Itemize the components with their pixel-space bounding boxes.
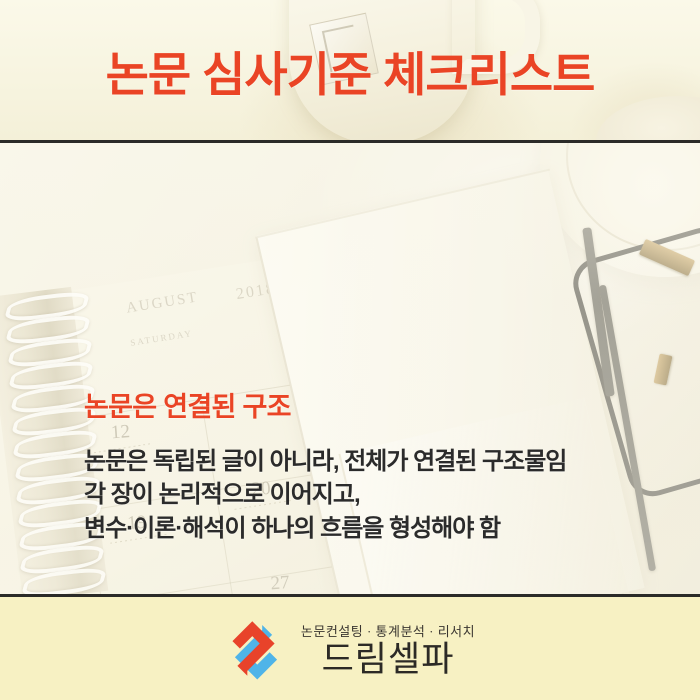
body-line-1: 논문은 독립된 글이 아니라, 전체가 연결된 구조물임 [84,445,644,479]
body-line-3: 변수·이론·해석이 하나의 흐름을 형성해야 함 [84,512,644,546]
section-heading: 논문은 연결된 구조 [84,393,644,423]
brand-tagline: 논문컨설팅 · 통계분석 · 리서치 [301,625,475,638]
infographic-card: 논문 심사기준 체크리스트 12 19 20 21 [0,0,700,700]
main-photo-band: 12 19 20 21 26 27 28 AUGUST 2018 NOTES S… [0,143,700,597]
body-line-2: 각 장이 논리적으로 이어지고, [84,478,644,512]
header-band: 논문 심사기준 체크리스트 [0,0,700,143]
page-title: 논문 심사기준 체크리스트 [0,0,700,140]
content-text-block: 논문은 연결된 구조 논문은 독립된 글이 아니라, 전체가 연결된 구조물임 … [84,393,644,545]
footer-band: 논문컨설팅 · 통계분석 · 리서치 드림셀파 [0,597,700,700]
dreamsherpa-logo-icon[interactable] [225,620,287,682]
brand-name: 드림셀파 [322,642,455,677]
